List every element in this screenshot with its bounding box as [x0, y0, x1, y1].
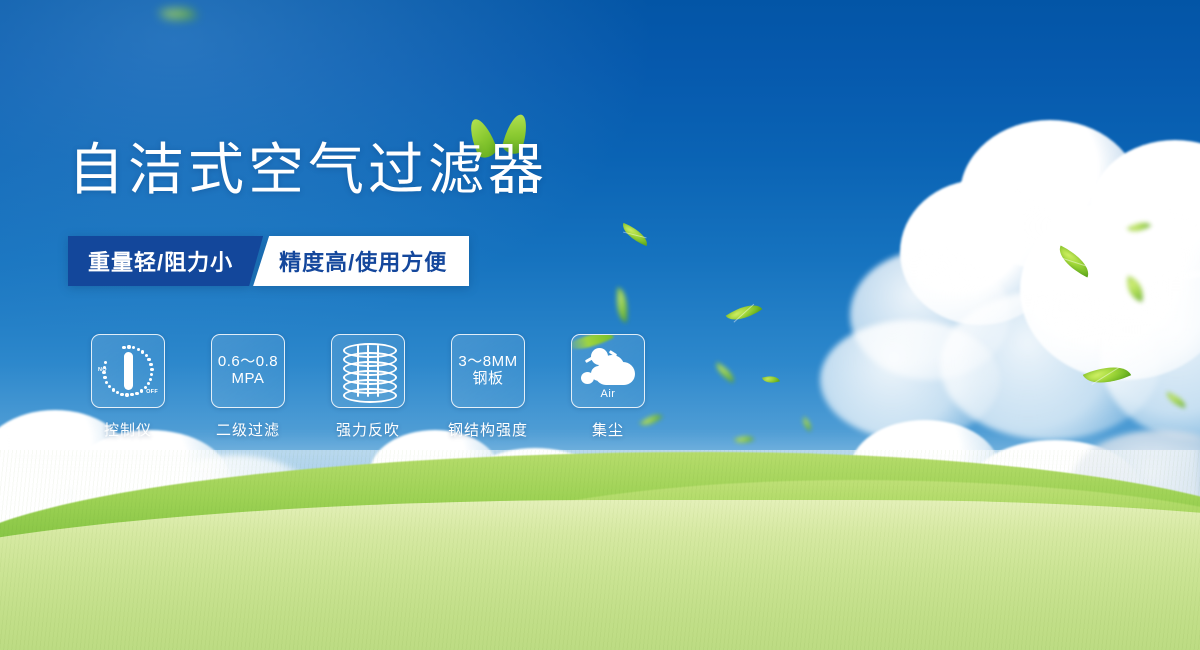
subtitle-right: 精度高/使用方便 [253, 236, 469, 286]
feature-list: NO OFF 控制仪 0.6～0.8 MPA 二级过滤 [68, 334, 668, 440]
dial-tick [147, 382, 150, 385]
dial-tick [140, 389, 143, 392]
feature-item-steel[interactable]: 3～8MM 钢板 钢结构强度 [428, 334, 548, 440]
feature-label: 钢结构强度 [448, 419, 528, 440]
feature-icon-box [331, 334, 405, 408]
feature-icon-box: 3～8MM 钢板 [451, 334, 525, 408]
steel-thickness: 3～8MM [458, 354, 517, 371]
pressure-unit: MPA [218, 371, 278, 388]
dial-tick [145, 354, 148, 357]
pressure-text-icon: 0.6～0.8 MPA [218, 354, 278, 388]
dial-tick [112, 388, 115, 391]
dial-tick [141, 350, 144, 353]
feature-item-filtration[interactable]: 0.6～0.8 MPA 二级过滤 [188, 334, 308, 440]
feature-item-backblow[interactable]: 强力反吹 [308, 334, 428, 440]
page-title: 自洁式空气过滤器 [68, 142, 548, 198]
dial-tick [150, 368, 153, 371]
dial-tick [120, 393, 123, 396]
dial-tick [103, 376, 106, 379]
filter-cartridge-icon [343, 343, 393, 399]
dial-tick [102, 371, 105, 374]
pressure-value: 0.6～0.8 [218, 354, 278, 371]
control-dial-icon: NO OFF [97, 340, 159, 402]
dial-tick [116, 391, 119, 394]
dial-tick [150, 373, 153, 376]
dial-tick [149, 363, 152, 366]
dial-tick [135, 392, 138, 395]
banner-content: 自洁式空气过滤器 重量轻/阻力小 精度高/使用方便 NO OFF 控制仪 [0, 0, 1200, 650]
feature-label: 二级过滤 [216, 419, 280, 440]
dial-tick [125, 393, 128, 396]
dial-tick [127, 345, 130, 348]
feature-icon-box: NO OFF [91, 334, 165, 408]
product-banner: 自洁式空气过滤器 重量轻/阻力小 精度高/使用方便 NO OFF 控制仪 [0, 0, 1200, 650]
feature-item-dust[interactable]: Air 集尘 [548, 334, 668, 440]
steel-material: 钢板 [458, 371, 517, 388]
feature-icon-box: 0.6～0.8 MPA [211, 334, 285, 408]
dial-tick [149, 378, 152, 381]
dial-tick [122, 346, 125, 349]
feature-item-control[interactable]: NO OFF 控制仪 [68, 334, 188, 440]
cloud-body [595, 362, 635, 385]
dial-tick [105, 381, 108, 384]
dial-needle [124, 352, 133, 390]
dial-tick [147, 358, 150, 361]
dial-tick [108, 385, 111, 388]
dial-off-label: OFF [146, 389, 158, 395]
dial-tick [132, 346, 135, 349]
feature-label: 强力反吹 [336, 419, 400, 440]
air-cloud-icon: Air [579, 345, 637, 397]
subtitle-bar: 重量轻/阻力小 精度高/使用方便 [68, 236, 469, 286]
dial-tick [137, 348, 140, 351]
subtitle-left: 重量轻/阻力小 [68, 236, 263, 286]
dial-tick [104, 361, 107, 364]
air-text-label: Air [579, 388, 637, 400]
steel-plate-text-icon: 3～8MM 钢板 [458, 354, 517, 388]
feature-label: 集尘 [592, 419, 624, 440]
feature-icon-box: Air [571, 334, 645, 408]
dial-tick [130, 393, 133, 396]
feature-label: 控制仪 [104, 419, 152, 440]
